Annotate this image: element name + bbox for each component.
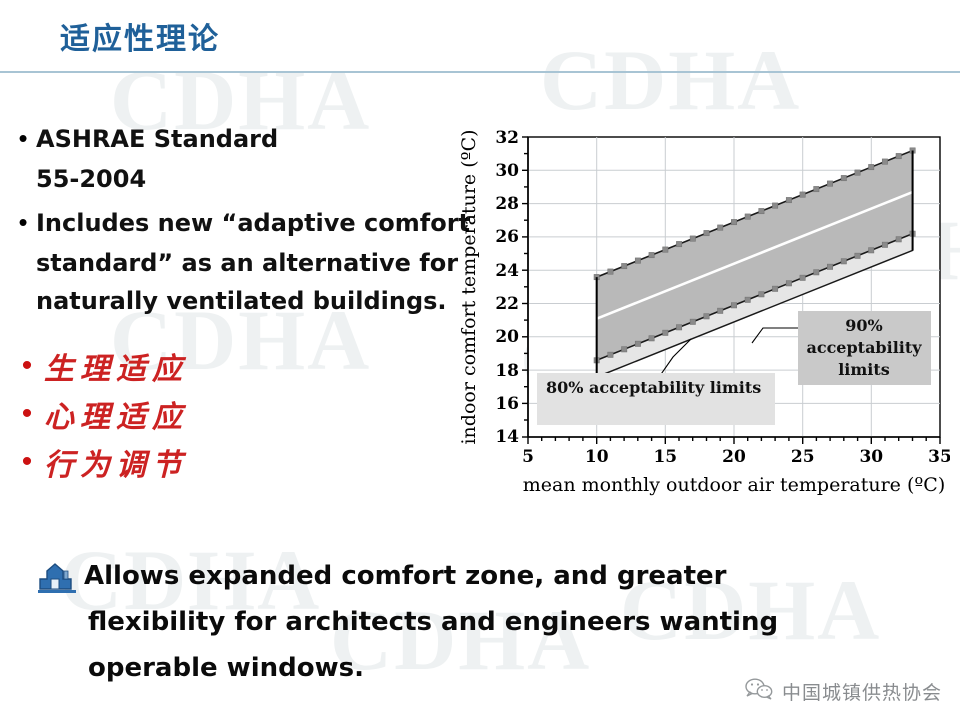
list-item: • 行为调节 (10, 438, 480, 486)
summary-line: operable windows. (88, 645, 778, 691)
bullet-text: Includes new “adaptive comfort (36, 204, 470, 242)
bullet-marker: • (10, 204, 36, 240)
y-tick-label: 22 (495, 294, 519, 314)
y-tick-label: 20 (495, 327, 519, 347)
annotation-80-label: 80% acceptability limits (546, 378, 761, 397)
y-axis-title: indoor comfort temperature (ºC) (458, 129, 480, 444)
bullet-text-continued: standard” as an alternative for (36, 244, 480, 282)
list-item: • 生理适应 (10, 342, 480, 390)
y-tick-label: 16 (495, 394, 519, 414)
summary-text: Allows expanded comfort zone, and greate… (84, 553, 778, 691)
x-tick-label: 10 (585, 447, 609, 467)
house-icon (38, 559, 84, 691)
list-item: • ASHRAE Standard (10, 120, 480, 158)
x-tick-label: 20 (722, 447, 746, 467)
y-tick-label: 30 (495, 161, 519, 181)
bullet-marker: • (10, 351, 44, 381)
annotation-90-label-line3: limits (838, 360, 890, 379)
y-tick-label: 14 (495, 427, 519, 447)
chinese-bullet-text: 行为调节 (44, 440, 188, 484)
summary-line: flexibility for architects and engineers… (88, 599, 778, 645)
wechat-icon (744, 677, 774, 706)
x-tick-label: 25 (791, 447, 815, 467)
chinese-bullet-list: • 生理适应 • 心理适应 • 行为调节 (10, 342, 480, 486)
bullet-marker: • (10, 447, 44, 477)
bullet-marker: • (10, 120, 36, 156)
bullet-marker: • (10, 399, 44, 429)
x-tick-label: 5 (522, 447, 534, 467)
y-tick-label: 26 (495, 227, 519, 247)
annotation-90-acceptability: 90% acceptability limits (798, 311, 931, 385)
annotation-90-label-line2: acceptability (806, 338, 922, 357)
summary-line: Allows expanded comfort zone, and greate… (84, 553, 778, 599)
adaptive-comfort-chart: 80% acceptability limits 90% acceptabili… (445, 125, 950, 500)
x-tick-label: 15 (653, 447, 677, 467)
list-item: • Includes new “adaptive comfort (10, 204, 480, 242)
slide-header: 适应性理论 (0, 14, 960, 74)
summary-note: Allows expanded comfort zone, and greate… (38, 553, 828, 691)
y-axis-ticks (522, 137, 528, 437)
chinese-bullet-text: 心理适应 (44, 392, 188, 436)
bullet-text-continued: 55-2004 (36, 160, 480, 198)
x-axis-ticks (528, 437, 940, 444)
page-title: 适应性理论 (60, 14, 220, 58)
annotation-90-label-line1: 90% (845, 316, 882, 335)
chinese-bullet-text: 生理适应 (44, 344, 188, 388)
title-divider (0, 71, 960, 73)
y-tick-label: 18 (495, 361, 519, 381)
footer-branding: 中国城镇供热协会 (744, 677, 942, 706)
annotation-80-acceptability: 80% acceptability limits (537, 373, 775, 425)
x-axis-tick-labels: 5 10 15 20 25 30 35 (522, 447, 950, 467)
content-body: • ASHRAE Standard 55-2004 • Includes new… (10, 120, 480, 486)
y-tick-label: 24 (495, 261, 519, 281)
x-tick-label: 30 (859, 447, 883, 467)
x-tick-label: 35 (928, 447, 950, 467)
bullet-text: ASHRAE Standard (36, 120, 278, 158)
footer-brand-text: 中国城镇供热协会 (782, 678, 942, 705)
y-tick-label: 28 (495, 194, 519, 214)
bullet-text-continued: naturally ventilated buildings. (36, 282, 480, 320)
x-axis-title: mean monthly outdoor air temperature (ºC… (523, 474, 946, 496)
y-axis-tick-labels: 32 30 28 26 24 22 20 18 16 14 (495, 128, 519, 447)
list-item: • 心理适应 (10, 390, 480, 438)
y-tick-label: 32 (495, 128, 519, 148)
